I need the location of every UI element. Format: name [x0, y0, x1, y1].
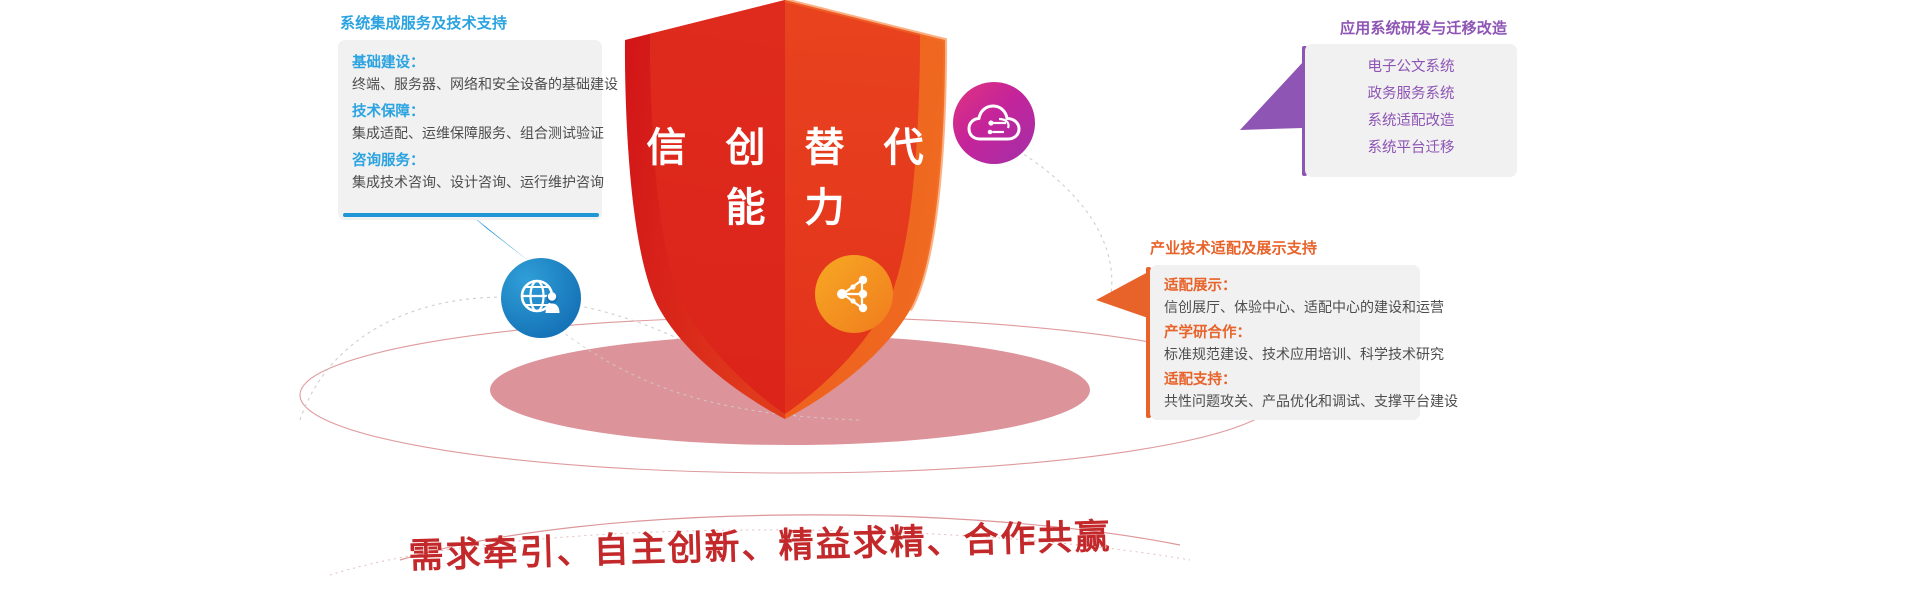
orbit-dash-right: [1000, 140, 1112, 300]
infographic-canvas: 信 创 替 代 能 力 系统集成服务及技术支持 基础建设： 终端、服务器、网络和…: [0, 0, 1920, 605]
purple-pointer: [1240, 62, 1303, 130]
entry-heading: 适配支持：: [1164, 371, 1420, 390]
entry-heading: 咨询服务：: [352, 152, 602, 171]
entry-heading: 适配展示：: [1164, 277, 1420, 296]
network-nodes-icon: [815, 255, 893, 333]
industry-entry: 适配支持： 共性问题攻关、产品优化和调试、支撑平台建设: [1164, 371, 1420, 411]
entry-body: 集成技术咨询、设计咨询、运行维护咨询: [352, 173, 602, 192]
blue-pointer: [470, 214, 530, 262]
industry-entry: 适配展示： 信创展厅、体验中心、适配中心的建设和运营: [1164, 277, 1420, 317]
integration-entry: 技术保障： 集成适配、运维保障服务、组合测试验证: [352, 103, 602, 143]
application-list-item: 电子公文系统: [1305, 54, 1517, 81]
cloud-network-icon: [953, 82, 1035, 164]
integration-panel: 基础建设： 终端、服务器、网络和安全设备的基础建设 技术保障： 集成适配、运维保…: [338, 40, 602, 220]
integration-entry: 咨询服务： 集成技术咨询、设计咨询、运行维护咨询: [352, 152, 602, 192]
entry-body: 共性问题攻关、产品优化和调试、支撑平台建设: [1164, 392, 1420, 411]
orange-pointer: [1096, 272, 1148, 318]
application-list-item: 政务服务系统: [1305, 81, 1517, 108]
application-panel: 电子公文系统 政务服务系统 系统适配改造 系统平台迁移: [1305, 44, 1517, 177]
integration-panel-underline: [343, 213, 599, 217]
entry-body: 信创展厅、体验中心、适配中心的建设和运营: [1164, 298, 1420, 317]
shield-left-shade: [650, 0, 785, 414]
central-shield: [600, 0, 970, 434]
entry-heading: 产学研合作：: [1164, 324, 1420, 343]
entry-heading: 基础建设：: [352, 54, 602, 73]
application-panel-title: 应用系统研发与迁移改造: [1340, 17, 1507, 38]
entry-body: 标准规范建设、技术应用培训、科学技术研究: [1164, 345, 1420, 364]
entry-body: 终端、服务器、网络和安全设备的基础建设: [352, 75, 602, 94]
globe-user-icon: [501, 258, 581, 338]
entry-body: 集成适配、运维保障服务、组合测试验证: [352, 124, 602, 143]
integration-panel-title: 系统集成服务及技术支持: [340, 12, 507, 33]
application-list-item: 系统平台迁移: [1305, 135, 1517, 162]
integration-entry: 基础建设： 终端、服务器、网络和安全设备的基础建设: [352, 54, 602, 94]
tagline-text: 需求牵引、自主创新、精益求精、合作共赢: [379, 507, 1140, 579]
industry-entry: 产学研合作： 标准规范建设、技术应用培训、科学技术研究: [1164, 324, 1420, 364]
application-list-item: 系统适配改造: [1305, 108, 1517, 135]
industry-panel: 适配展示： 信创展厅、体验中心、适配中心的建设和运营 产学研合作： 标准规范建设…: [1150, 265, 1420, 420]
industry-panel-title: 产业技术适配及展示支持: [1150, 237, 1317, 258]
entry-heading: 技术保障：: [352, 103, 602, 122]
